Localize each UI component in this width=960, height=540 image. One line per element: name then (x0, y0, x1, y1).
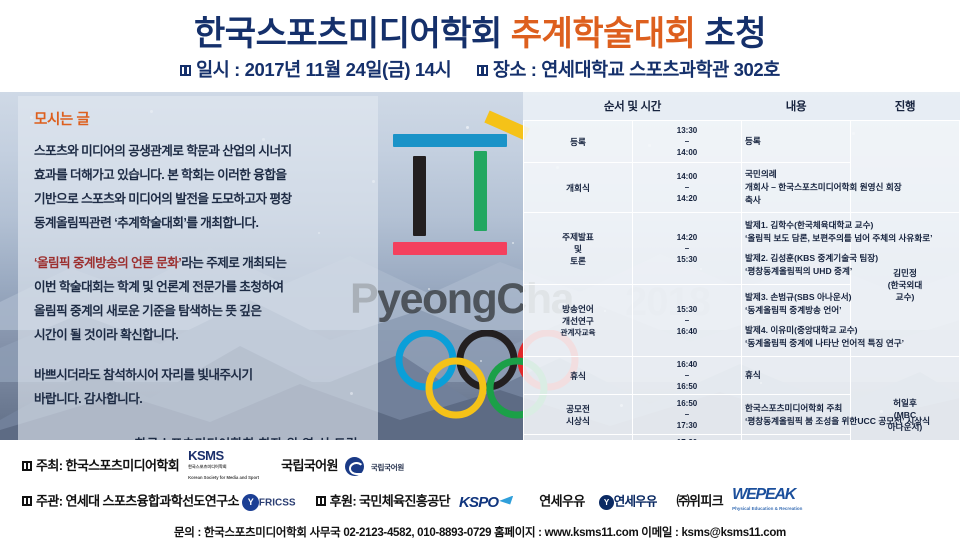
time-start: 16:40 (677, 360, 697, 369)
col-header-order-time: 순서 및 시간 (524, 92, 742, 121)
fricss-seal-icon: Y (242, 494, 259, 511)
order-line: 개선연구 (562, 316, 594, 326)
bullet-square-icon-2 (477, 65, 488, 76)
yonsei-milk-label: 연세우유 (539, 493, 584, 508)
greeting-p1-l3: 기반으로 스포츠와 미디어의 발전을 도모하고자 평창 (34, 192, 292, 206)
content-line: ‘평창동계올림픽의 UHD 중계’ (745, 265, 847, 278)
row-content-presentation: 발제1. 김학수(한국체육대학교 교수) ‘올림픽 보도 담론, 보편주의를 넘… (742, 213, 851, 285)
row-content-broadcast-language: 발제3. 손범규(SBS 아나운서) ‘동계올림픽 중계방송 언어’ 발제4. … (742, 285, 851, 357)
col-header-host: 진행 (851, 92, 960, 121)
row-content-break: 휴식 (742, 357, 851, 395)
kspo-logo-text: KSPO (459, 494, 498, 511)
content-line: 발제4. 이유미(중앙대학교 교수) (745, 324, 847, 337)
row-order-registration: 등록 (524, 121, 633, 163)
wepeak-logo-sub: Physical Education & Recreation (732, 502, 802, 516)
content-line: ‘올림픽 보도 담론, 보편주의를 넘어 주체의 사유화로’ (745, 232, 847, 245)
content-line: 등록 (745, 135, 847, 148)
greeting-paragraph-2: ‘올림픽 중계방송의 언론 문화’라는 주제로 개최되는 이번 학술대회는 학계… (34, 251, 362, 347)
ksms-logo-sub2: Korean Society for Media and Sport (188, 472, 259, 483)
content-line: 발제3. 손범규(SBS 아나운서) (745, 291, 847, 304)
event-place: 장소 : 연세대학교 스포츠과학관 302호 (493, 59, 780, 80)
footer-contact: 문의 : 한국스포츠미디어학회 사무국 02-2123-4582, 010-88… (0, 524, 960, 540)
table-row: 등록 13:30–14:00 등록 (524, 121, 960, 163)
row-host-empty-1 (851, 121, 960, 213)
wepeak-company-label: ㈜위피크 (677, 493, 723, 508)
greeting-p2-l1-rest: 라는 주제로 개최되는 (181, 256, 286, 270)
footer-organizer-row: 주관: 연세대 스포츠융합과학선도연구소 YFRICSS 후원: 국민체육진흥공… (22, 488, 808, 516)
row-time-award: 16:50–17:30 (633, 395, 742, 435)
row-time-presentation: 14:20–15:30 (633, 213, 742, 285)
bullet-square-icon-4 (22, 496, 32, 506)
greeting-p2-l3: 올림픽 중계의 새로운 기준을 탐색하는 뜻 깊은 (34, 304, 261, 318)
row-order-opening: 개회식 (524, 163, 633, 213)
greeting-paragraph-3: 바쁘시더라도 참석하시어 자리를 빛내주시기 바랍니다. 감사합니다. (34, 363, 362, 411)
time-start: 14:00 (677, 172, 697, 181)
greeting-p1-l4: 동계올림픽관련 ‘추계학술대회’를 개최합니다. (34, 216, 258, 230)
nikl-label: 국립국어원 (281, 458, 338, 473)
time-end: 17:30 (677, 421, 697, 430)
conference-theme-quote: ‘올림픽 중계방송의 언론 문화’ (34, 256, 181, 270)
time-end: 15:30 (677, 255, 697, 264)
footer-host-row: 주최: 한국스포츠미디어학회 KSMS 한국스포츠미디어학회 Korean So… (22, 450, 404, 483)
bullet-square-icon (180, 65, 191, 76)
host-line: (한국외대 (888, 280, 923, 290)
schedule-table-panel: 순서 및 시간 내용 진행 등록 13:30–14:00 등록 (523, 92, 960, 440)
korean-gov-taegeuk-icon (345, 457, 364, 476)
ksms-logo: KSMS 한국스포츠미디어학회 Korean Society for Media… (188, 450, 259, 483)
wepeak-logo-text: WEPEAK (732, 486, 795, 503)
greeting-panel: 모시는 글 스포츠와 미디어의 공생관계로 학문과 산업의 시너지 효과를 더해… (18, 96, 378, 441)
greeting-p3-l1: 바쁘시더라도 참석하시어 자리를 빛내주시기 (34, 368, 253, 382)
content-line: 국민의례 (745, 168, 847, 181)
fricss-logo-text: FRICSS (259, 497, 296, 508)
table-row: 주제발표 및 토론 14:20–15:30 발제1. 김학수(한국체육대학교 교… (524, 213, 960, 285)
host-line: 허일후 (893, 398, 917, 408)
time-end: 16:50 (677, 382, 697, 391)
time-end: 14:20 (677, 194, 697, 203)
page-title: 한국스포츠미디어학회 추계학술대회 초청 (0, 6, 960, 55)
content-spacer (745, 245, 847, 252)
greeting-p2-l2: 이번 학술대회는 학계 및 언론계 전문가를 초청하여 (34, 280, 283, 294)
content-line: 한국스포츠미디어학회 주최 (745, 402, 847, 415)
row-time-opening: 14:00–14:20 (633, 163, 742, 213)
schedule-table: 순서 및 시간 내용 진행 등록 13:30–14:00 등록 (523, 92, 960, 473)
pyeongchang-emblem-icon (385, 120, 515, 255)
row-order-broadcast-language: 방송언어 개선연구 관계자교육 (524, 285, 633, 357)
wepeak-logo: WEPEAK Physical Education & Recreation (732, 488, 802, 516)
order-line: 공모전 (566, 404, 590, 414)
greeting-p3-l2: 바랍니다. 감사합니다. (34, 392, 142, 406)
time-start: 15:30 (677, 305, 697, 314)
row-time-broadcast-language: 15:30–16:40 (633, 285, 742, 357)
table-row: 휴식 16:40–16:50 휴식 허일후 (MBC 아나운서) (524, 357, 960, 395)
order-line: 방송언어 (562, 304, 594, 314)
host-line: 교수) (896, 292, 915, 302)
greeting-p1-l2: 효과를 더해가고 있습니다. 본 학회는 이러한 융합을 (34, 168, 286, 182)
content-line: ‘평창동계올림픽 붐 조성을 위한UCC 공모전’ 시상식 (745, 415, 847, 428)
footer-host-label: 주최: 한국스포츠미디어학회 (36, 458, 179, 473)
yonsei-milk-logo-text: 연세우유 (614, 494, 657, 508)
poster-root: PyeongCha 2018 한국스포츠미디어학회 추계학술대회 초청 일시 :… (0, 0, 960, 540)
schedule-table-body: 등록 13:30–14:00 등록 개회식 14:00–14:20 국 (524, 121, 960, 473)
kspo-swoosh-icon (499, 496, 513, 505)
footer-organizer-label: 주관: 연세대 스포츠융합과학선도연구소 (36, 493, 239, 508)
content-line: 휴식 (745, 369, 847, 382)
row-content-award: 한국스포츠미디어학회 주최 ‘평창동계올림픽 붐 조성을 위한UCC 공모전’ … (742, 395, 851, 435)
time-start: 16:50 (677, 399, 697, 408)
greeting-paragraph-1: 스포츠와 미디어의 공생관계로 학문과 산업의 시너지 효과를 더해가고 있습니… (34, 139, 362, 235)
kspo-logo: KSPO (459, 494, 513, 511)
time-end: 14:00 (677, 148, 697, 157)
order-line: 주제발표 (562, 232, 594, 242)
nikl-logo-text: 국립국어원 (371, 463, 404, 472)
host-line: 김민정 (893, 268, 917, 278)
content-line: 축사 (745, 194, 847, 207)
order-line: 토론 (570, 256, 586, 266)
ksms-logo-sub: 한국스포츠미디어학회 (188, 461, 259, 472)
title-invitation: 초청 (704, 15, 766, 53)
time-start: 14:20 (677, 233, 697, 242)
order-line: 시상식 (566, 416, 590, 426)
content-line: 개회사 – 한국스포츠미디어학회 원영신 회장 (745, 181, 847, 194)
order-line: 관계자교육 (527, 327, 629, 339)
content-line: ‘동계올림픽 중계에 나타난 언어적 특징 연구’ (745, 337, 847, 350)
row-content-opening: 국민의례 개회사 – 한국스포츠미디어학회 원영신 회장 축사 (742, 163, 851, 213)
greeting-p1-l1: 스포츠와 미디어의 공생관계로 학문과 산업의 시너지 (34, 144, 292, 158)
greeting-heading: 모시는 글 (34, 108, 362, 129)
event-meta: 일시 : 2017년 11월 24일(금) 14시 장소 : 연세대학교 스포츠… (0, 56, 960, 82)
order-line: 및 (574, 244, 582, 254)
content-line: ‘동계올림픽 중계방송 언어’ (745, 304, 847, 317)
row-content-registration: 등록 (742, 121, 851, 163)
poster-header: 한국스포츠미디어학회 추계학술대회 초청 일시 : 2017년 11월 24일(… (0, 0, 960, 92)
yonsei-seal-icon: Y (599, 495, 614, 510)
greeting-p2-l4: 시간이 될 것이라 확신합니다. (34, 328, 178, 342)
event-date: 일시 : 2017년 11월 24일(금) 14시 (196, 59, 451, 80)
footer-sponsor-label: 후원: 국민체육진흥공단 (330, 493, 450, 508)
schedule-header-row: 순서 및 시간 내용 진행 (524, 92, 960, 121)
content-spacer (745, 317, 847, 324)
bullet-square-icon-5 (316, 496, 326, 506)
row-order-presentation: 주제발표 및 토론 (524, 213, 633, 285)
time-start: 13:30 (677, 126, 697, 135)
row-order-break: 휴식 (524, 357, 633, 395)
poster-footer: 주최: 한국스포츠미디어학회 KSMS 한국스포츠미디어학회 Korean So… (0, 440, 960, 540)
title-society: 한국스포츠미디어학회 (194, 15, 502, 53)
time-end: 16:40 (677, 327, 697, 336)
row-time-break: 16:40–16:50 (633, 357, 742, 395)
col-header-content: 내용 (742, 92, 851, 121)
bullet-square-icon-3 (22, 461, 32, 471)
content-line: 발제2. 김성훈(KBS 중계기술국 팀장) (745, 252, 847, 265)
row-time-registration: 13:30–14:00 (633, 121, 742, 163)
row-order-award: 공모전 시상식 (524, 395, 633, 435)
schedule-table-head: 순서 및 시간 내용 진행 (524, 92, 960, 121)
content-line: 발제1. 김학수(한국체육대학교 교수) (745, 219, 847, 232)
title-event: 추계학술대회 (511, 15, 696, 53)
